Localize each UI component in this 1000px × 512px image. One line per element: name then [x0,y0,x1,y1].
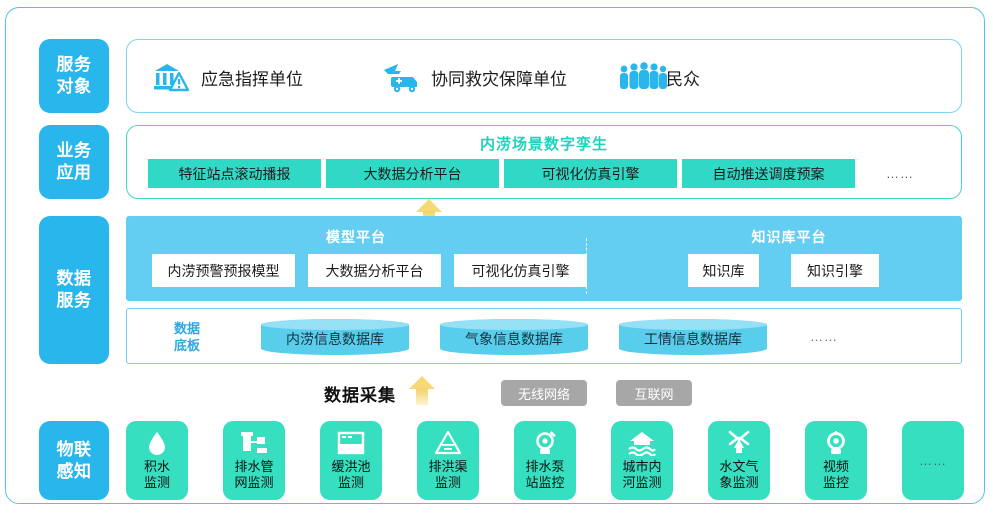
business-app-chip-auto-dispatch-plan[interactable]: 自动推送调度预案 [682,159,855,188]
service-object-label: 应急指挥单位 [201,65,303,90]
retention-pond-icon [336,430,366,456]
business-app-chip-label: 特征站点滚动播报 [179,164,291,184]
iot-tile-label: 视频 监控 [823,459,849,491]
people-group-icon [617,60,655,94]
model-chip-label: 内涝预警预报模型 [168,261,280,281]
business-app-ellipsis: …… [860,159,940,188]
category-line: 感知 [57,461,92,483]
model-chip-waterlogging-forecast-model[interactable]: 内涝预警预报模型 [152,254,295,287]
video-camera-icon [821,430,851,456]
iot-tile-label: 排洪渠 监测 [428,459,467,491]
network-chip-label: 互联网 [634,384,673,403]
category-chip-service-object[interactable]: 服务 对象 [39,39,109,113]
category-chip-business-application[interactable]: 业务 应用 [39,125,109,199]
database-cylinder-engineering-info[interactable]: 工情信息数据库 [619,319,767,355]
database-label: 工情信息数据库 [644,329,742,349]
knowledge-chip-knowledge-engine[interactable]: 知识引擎 [791,254,879,287]
iot-tile-urban-river-monitoring[interactable]: 城市内 河监测 [611,421,673,500]
iot-tile-pump-station-monitoring[interactable]: 排水泵 站监控 [514,421,576,500]
network-chip-label: 无线网络 [518,384,570,403]
drain-pipe-icon [239,430,269,456]
flood-channel-icon [433,430,463,456]
database-ellipsis: …… [810,329,838,344]
rescue-vehicle-icon [382,60,420,94]
data-base-plate-panel: 数据 底板 内涝信息数据库 气象信息数据库 工情信息数据库 …… [126,308,962,364]
model-chip-visual-simulation-engine[interactable]: 可视化仿真引擎 [454,254,587,287]
iot-tile-label: 排水泵 站监控 [525,459,564,491]
iot-tile-label: 水文气 象监测 [719,459,758,491]
database-cylinder-meteorological-info[interactable]: 气象信息数据库 [440,319,588,355]
business-app-chip-label: 大数据分析平台 [364,164,462,184]
iot-tile-flood-channel-monitoring[interactable]: 排洪渠 监测 [417,421,479,500]
knowledge-chip-knowledge-base[interactable]: 知识库 [688,254,759,287]
urban-river-icon [627,430,657,456]
category-chip-data-service[interactable]: 数据 服务 [39,216,109,364]
service-objects-panel: 应急指挥单位 协同救灾保障单位 [126,39,962,113]
model-chip-label: 可视化仿真引擎 [472,261,570,281]
government-alert-icon [152,60,190,94]
data-base-plate-label: 数据 底板 [167,320,207,354]
knowledge-platform-title: 知识库平台 [616,227,962,247]
model-chip-label: 大数据分析平台 [326,261,424,281]
iot-tile-video-surveillance[interactable]: 视频 监控 [805,421,867,500]
iot-tile-label: 排水管 网监测 [234,459,273,491]
business-app-chip-visual-simulation-engine[interactable]: 可视化仿真引擎 [504,159,677,188]
service-object-item-relief-support[interactable]: 协同救灾保障单位 [382,40,567,114]
iot-tile-ellipsis: …… [919,453,947,468]
service-object-label: 协同救灾保障单位 [431,65,567,90]
service-object-item-emergency-command[interactable]: 应急指挥单位 [152,40,303,114]
database-label: 内涝信息数据库 [286,329,384,349]
iot-sensing-panel: 积水 监测 排水管 网监测 [126,421,962,500]
business-app-chip-bigdata-platform[interactable]: 大数据分析平台 [326,159,499,188]
iot-tile-drainage-pipe-network[interactable]: 排水管 网监测 [223,421,285,500]
category-line: 对象 [57,76,92,98]
knowledge-chip-label: 知识库 [703,261,745,281]
model-chip-bigdata-platform[interactable]: 大数据分析平台 [308,254,441,287]
category-line: 数据 [57,268,92,290]
category-line: 物联 [57,439,92,461]
iot-tile-retention-pond-monitoring[interactable]: 缓洪池 监测 [320,421,382,500]
category-line: 服务 [57,290,92,312]
category-line: 服务 [57,54,92,76]
category-line: 应用 [57,162,92,184]
iot-tile-label: 积水 监测 [144,459,170,491]
iot-tile-waterlogging-monitoring[interactable]: 积水 监测 [126,421,188,500]
iot-tile-more[interactable]: …… [902,421,964,500]
data-service-platform-band: 模型平台 知识库平台 内涝预警预报模型 大数据分析平台 可视化仿真引擎 知识库 … [126,216,962,301]
data-collection-label: 数据采集 [324,381,396,406]
iot-tile-label: 城市内 河监测 [622,459,661,491]
network-chip-wireless[interactable]: 无线网络 [501,380,587,406]
architecture-diagram-frame: 服务 对象 业务 应用 数据 服务 物联 感知 [5,7,985,504]
database-label: 气象信息数据库 [465,329,563,349]
iot-tile-label: 缓洪池 监测 [331,459,370,491]
business-app-chip-feature-station-broadcast[interactable]: 特征站点滚动播报 [148,159,321,188]
business-application-title: 内涝场景数字孪生 [127,133,961,154]
pump-station-icon [530,430,560,456]
service-object-item-public[interactable]: 民众 [617,40,700,114]
database-cylinder-waterlogging-info[interactable]: 内涝信息数据库 [261,319,409,355]
category-chip-iot-sensing[interactable]: 物联 感知 [39,421,109,500]
model-platform-title: 模型平台 [126,227,586,247]
iot-tile-hydro-meteorological-monitoring[interactable]: 水文气 象监测 [708,421,770,500]
data-base-plate-label-line: 数据 [167,320,207,337]
business-app-chip-label: 可视化仿真引擎 [542,164,640,184]
business-app-chip-label: 自动推送调度预案 [713,164,825,184]
network-chip-internet[interactable]: 互联网 [616,380,692,406]
water-drop-icon [142,430,172,456]
business-application-panel: 内涝场景数字孪生 特征站点滚动播报 大数据分析平台 可视化仿真引擎 自动推送调度… [126,125,962,199]
knowledge-chip-label: 知识引擎 [807,261,863,281]
category-line: 业务 [57,140,92,162]
data-base-plate-label-line: 底板 [167,337,207,354]
weather-station-icon [724,430,754,456]
service-object-label: 民众 [666,65,700,90]
